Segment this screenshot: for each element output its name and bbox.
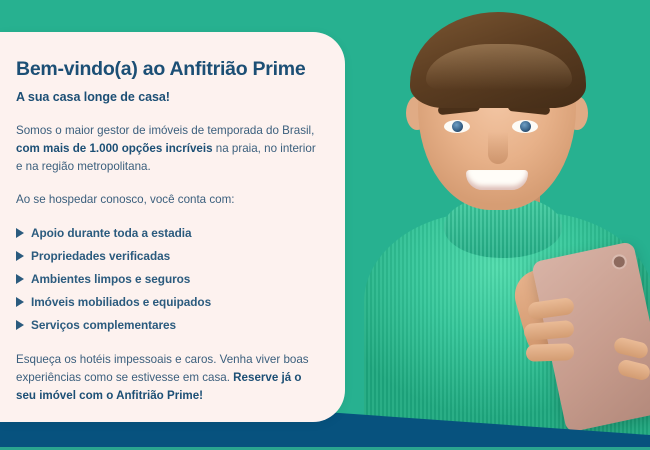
- page-title: Bem-vindo(a) ao Anfitrião Prime: [16, 58, 321, 80]
- intro-paragraph: Somos o maior gestor de imóveis de tempo…: [16, 122, 316, 175]
- closing-paragraph: Esqueça os hotéis impessoais e caros. Ve…: [16, 351, 321, 405]
- list-item: Propriedades verificadas: [16, 245, 321, 268]
- subtitle: A sua casa longe de casa!: [16, 90, 321, 104]
- eye-left: [444, 120, 470, 133]
- nose: [488, 132, 508, 164]
- benefits-list: Apoio durante toda a estadia Propriedade…: [16, 222, 321, 337]
- hair: [410, 12, 586, 108]
- list-item-label: Imóveis mobiliados e equipados: [31, 295, 211, 309]
- benefits-lead-in: Ao se hospedar conosco, você conta com:: [16, 191, 316, 209]
- list-item-label: Propriedades verificadas: [31, 249, 170, 263]
- triangle-bullet-icon: [16, 251, 24, 261]
- intro-highlight: com mais de 1.000 opções incríveis: [16, 142, 213, 155]
- list-item: Ambientes limpos e seguros: [16, 268, 321, 291]
- smile: [466, 170, 528, 190]
- triangle-bullet-icon: [16, 297, 24, 307]
- intro-text-part1: Somos o maior gestor de imóveis de tempo…: [16, 124, 314, 137]
- triangle-bullet-icon: [16, 228, 24, 238]
- promo-banner: Bem-vindo(a) ao Anfitrião Prime A sua ca…: [0, 0, 650, 450]
- list-item: Apoio durante toda a estadia: [16, 222, 321, 245]
- list-item: Imóveis mobiliados e equipados: [16, 291, 321, 314]
- list-item-label: Serviços complementares: [31, 318, 176, 332]
- list-item-label: Ambientes limpos e seguros: [31, 272, 190, 286]
- triangle-bullet-icon: [16, 320, 24, 330]
- welcome-card: Bem-vindo(a) ao Anfitrião Prime A sua ca…: [0, 32, 345, 422]
- list-item-label: Apoio durante toda a estadia: [31, 226, 192, 240]
- eye-right: [512, 120, 538, 133]
- triangle-bullet-icon: [16, 274, 24, 284]
- list-item: Serviços complementares: [16, 314, 321, 337]
